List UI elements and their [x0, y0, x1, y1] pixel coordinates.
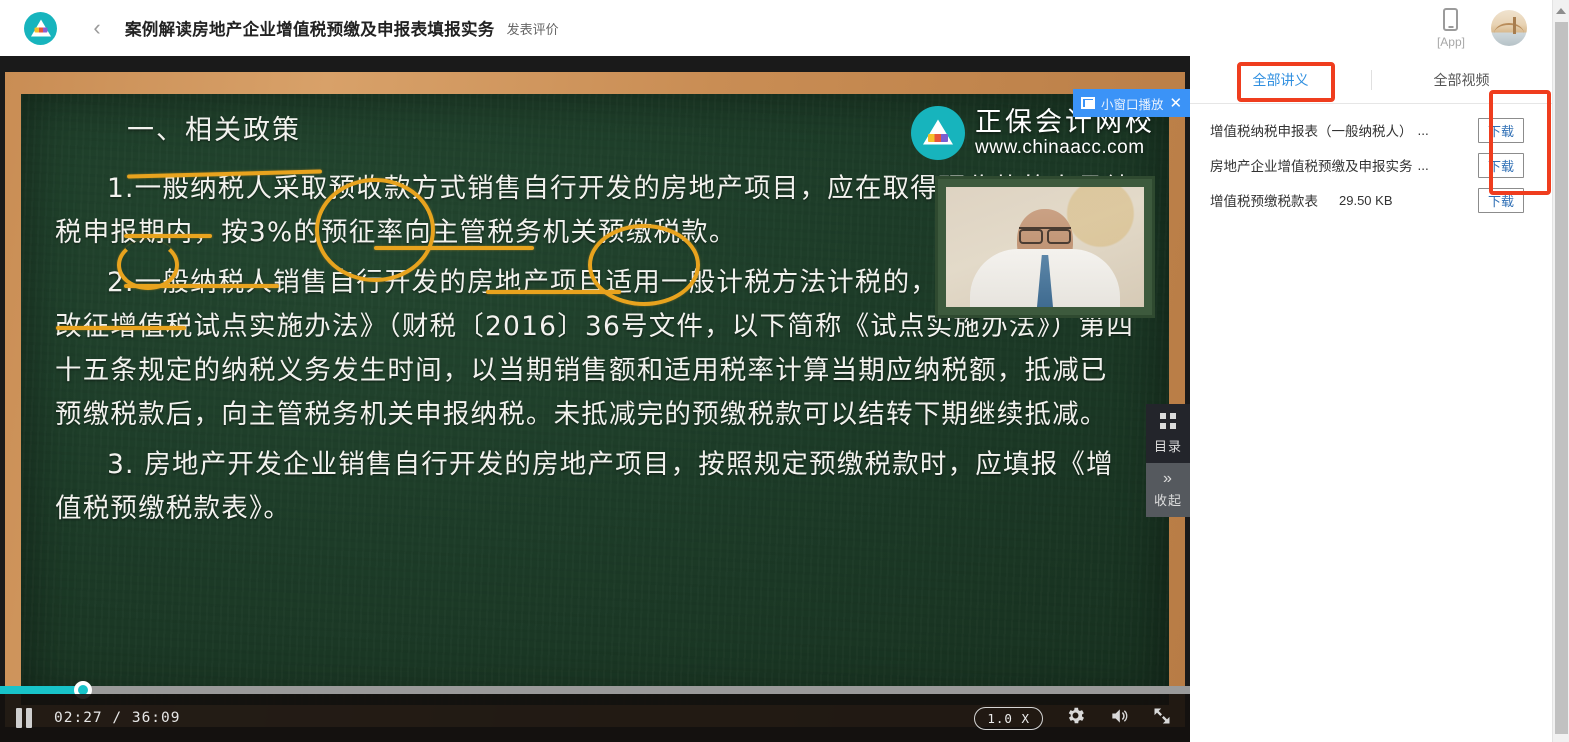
- catalog-label: 目录: [1154, 439, 1182, 454]
- download-button[interactable]: 下载: [1478, 188, 1524, 213]
- video-progress-bar[interactable]: [0, 686, 1190, 694]
- page-scrollbar[interactable]: [1552, 0, 1569, 742]
- instructor-glasses: [1019, 227, 1071, 238]
- pip-mode-toast[interactable]: 小窗口播放 ✕: [1073, 89, 1190, 117]
- handout-name-ellipsis: ...: [1418, 158, 1429, 173]
- close-icon[interactable]: ✕: [1170, 96, 1183, 111]
- tab-all-handouts[interactable]: 全部讲义: [1190, 56, 1371, 103]
- avatar[interactable]: [1491, 10, 1527, 46]
- grid-dots-icon: [1146, 413, 1190, 429]
- progress-track[interactable]: [0, 686, 1190, 694]
- top-header-bar: ‹ 案例解读房地产企业增值税预缴及申报表填报实务 发表评价 [App]: [0, 0, 1569, 56]
- logo-color-bars-shape: [34, 28, 47, 33]
- scrollbar-thumb[interactable]: [1555, 22, 1568, 734]
- post-comment-link[interactable]: 发表评价: [507, 19, 559, 38]
- chevron-double-right-icon: »: [1146, 472, 1190, 486]
- list-item[interactable]: 房地产企业增值税预缴及申报实务 ... 下载: [1190, 150, 1552, 180]
- player-right-controls: 1.0 X: [974, 705, 1172, 731]
- instructor-webcam-frame: [946, 187, 1144, 307]
- list-item[interactable]: 增值税纳税申报表（一般纳税人） ... 下载: [1190, 115, 1552, 145]
- handout-name: 房地产企业增值税预缴及申报实务: [1210, 155, 1413, 175]
- page-root: ‹ 案例解读房地产企业增值税预缴及申报表填报实务 发表评价 [App] 一、相关…: [0, 0, 1569, 742]
- blackboard-surface: 一、相关政策 1.一般纳税人采取预收款方式销售自行开发的房地产项目，应在取得预收…: [21, 94, 1169, 705]
- blackboard-paragraph-3: 3. 房地产开发企业销售自行开发的房地产项目，按照规定预缴税款时，应填报《增值税…: [55, 443, 1135, 531]
- picture-in-picture-icon: [1081, 97, 1095, 109]
- handout-size: 29.50 KB: [1339, 193, 1393, 208]
- handout-name-ellipsis: ...: [1418, 123, 1429, 138]
- chinaacc-logo-icon[interactable]: [24, 12, 57, 45]
- materials-panel: 全部讲义 全部视频 增值税纳税申报表（一般纳税人） ... 下载 房地产企业增值…: [1190, 56, 1552, 742]
- chevron-left-icon[interactable]: ‹: [87, 17, 107, 39]
- chinaacc-logo-icon: [911, 106, 965, 160]
- list-item[interactable]: 增值税预缴税款表 29.50 KB 下载: [1190, 185, 1552, 215]
- download-button[interactable]: 下载: [1478, 153, 1524, 178]
- progress-fill: [0, 686, 83, 694]
- player-side-tabs: 目录 » 收起: [1146, 404, 1190, 517]
- download-button[interactable]: 下载: [1478, 118, 1524, 143]
- header-actions: [App]: [1437, 8, 1527, 49]
- scroll-up-arrow-icon[interactable]: [1556, 8, 1566, 14]
- time-display: 02:27 / 36:09: [54, 710, 181, 726]
- pause-icon[interactable]: [16, 708, 36, 728]
- logo-color-bars-shape: [928, 134, 948, 142]
- collapse-label: 收起: [1154, 493, 1182, 508]
- app-label: [App]: [1437, 35, 1465, 49]
- tab-all-videos[interactable]: 全部视频: [1371, 56, 1552, 103]
- video-player[interactable]: 一、相关政策 1.一般纳税人采取预收款方式销售自行开发的房地产项目，应在取得预收…: [0, 56, 1190, 742]
- handout-name: 增值税预缴税款表: [1210, 190, 1318, 210]
- player-control-bar: 02:27 / 36:09 1.0 X: [0, 694, 1190, 742]
- gear-icon[interactable]: [1065, 705, 1086, 731]
- handout-list: 增值税纳税申报表（一般纳税人） ... 下载 房地产企业增值税预缴及申报实务 .…: [1190, 104, 1552, 215]
- pip-toast-label: 小窗口播放: [1101, 94, 1164, 113]
- handout-name: 增值税纳税申报表（一般纳税人）: [1210, 120, 1413, 140]
- sidebar-item-collapse[interactable]: » 收起: [1146, 463, 1190, 517]
- fullscreen-icon[interactable]: [1152, 706, 1172, 731]
- volume-icon[interactable]: [1108, 706, 1130, 731]
- app-download-entry[interactable]: [App]: [1437, 8, 1465, 49]
- blackboard-wooden-frame: 一、相关政策 1.一般纳税人采取预收款方式销售自行开发的房地产项目，应在取得预收…: [5, 72, 1185, 727]
- instructor-video-thumbnail[interactable]: [935, 176, 1155, 318]
- page-title: 案例解读房地产企业增值税预缴及申报表填报实务: [125, 16, 495, 40]
- materials-tab-strip: 全部讲义 全部视频: [1190, 56, 1552, 104]
- watermark-url: www.chinaacc.com: [975, 138, 1155, 158]
- mobile-phone-icon: [1443, 8, 1458, 31]
- playback-speed-button[interactable]: 1.0 X: [974, 707, 1043, 730]
- sidebar-item-catalog[interactable]: 目录: [1146, 404, 1190, 463]
